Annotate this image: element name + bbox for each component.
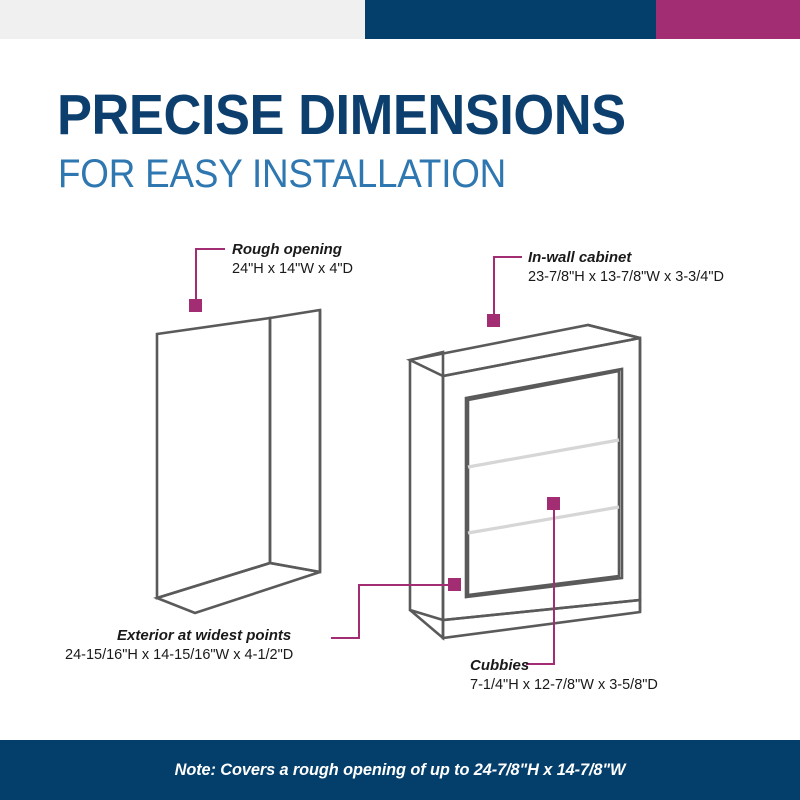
callout-cubbies-dimensions: 7-1/4"H x 12-7/8"W x 3-5/8"D: [470, 675, 658, 695]
callout-rough-opening: Rough opening 24"H x 14"W x 4"D: [232, 240, 353, 279]
callout-rough-opening-title: Rough opening: [232, 240, 353, 259]
callout-in-wall-cabinet-dimensions: 23-7/8"H x 13-7/8"W x 3-3/4"D: [528, 267, 724, 287]
in-wall-cabinet-shape: [410, 325, 640, 638]
leader-line-exterior-horizontal-lower: [331, 637, 360, 639]
page-title: PRECISE DIMENSIONS: [57, 84, 626, 146]
leader-line-cubbies-vertical: [553, 503, 555, 664]
callout-in-wall-cabinet-title: In-wall cabinet: [528, 248, 724, 267]
callout-cubbies-title: Cubbies: [470, 656, 658, 675]
callout-in-wall-cabinet: In-wall cabinet 23-7/8"H x 13-7/8"W x 3-…: [528, 248, 724, 287]
top-bar-navy: [365, 0, 656, 39]
page-subtitle: FOR EASY INSTALLATION: [58, 152, 506, 196]
callout-exterior-title: Exterior at widest points: [65, 626, 291, 645]
rough-opening-niche-shape: [157, 310, 320, 613]
infographic-page: PRECISE DIMENSIONS FOR EASY INSTALLATION: [0, 0, 800, 800]
callout-exterior-dimensions: 24-15/16"H x 14-15/16"W x 4-1/2"D: [65, 645, 293, 665]
leader-line-in-wall-cabinet-vertical: [493, 256, 495, 318]
leader-line-exterior-horizontal-upper: [358, 584, 452, 586]
callout-cubbies: Cubbies 7-1/4"H x 12-7/8"W x 3-5/8"D: [470, 656, 658, 695]
leader-line-rough-opening-vertical: [195, 248, 197, 303]
footer-note-text: Note: Covers a rough opening of up to 24…: [16, 740, 784, 800]
leader-line-in-wall-cabinet-horizontal: [493, 256, 522, 258]
leader-line-rough-opening-horizontal: [195, 248, 225, 250]
callout-exterior-widest-points: Exterior at widest points 24-15/16"H x 1…: [65, 626, 291, 665]
cabinet-shelf-lines: [468, 440, 619, 533]
top-bar-gray: [0, 0, 365, 39]
top-bar-magenta: [656, 0, 800, 39]
leader-line-exterior-vertical: [358, 584, 360, 639]
callout-rough-opening-dimensions: 24"H x 14"W x 4"D: [232, 259, 353, 279]
